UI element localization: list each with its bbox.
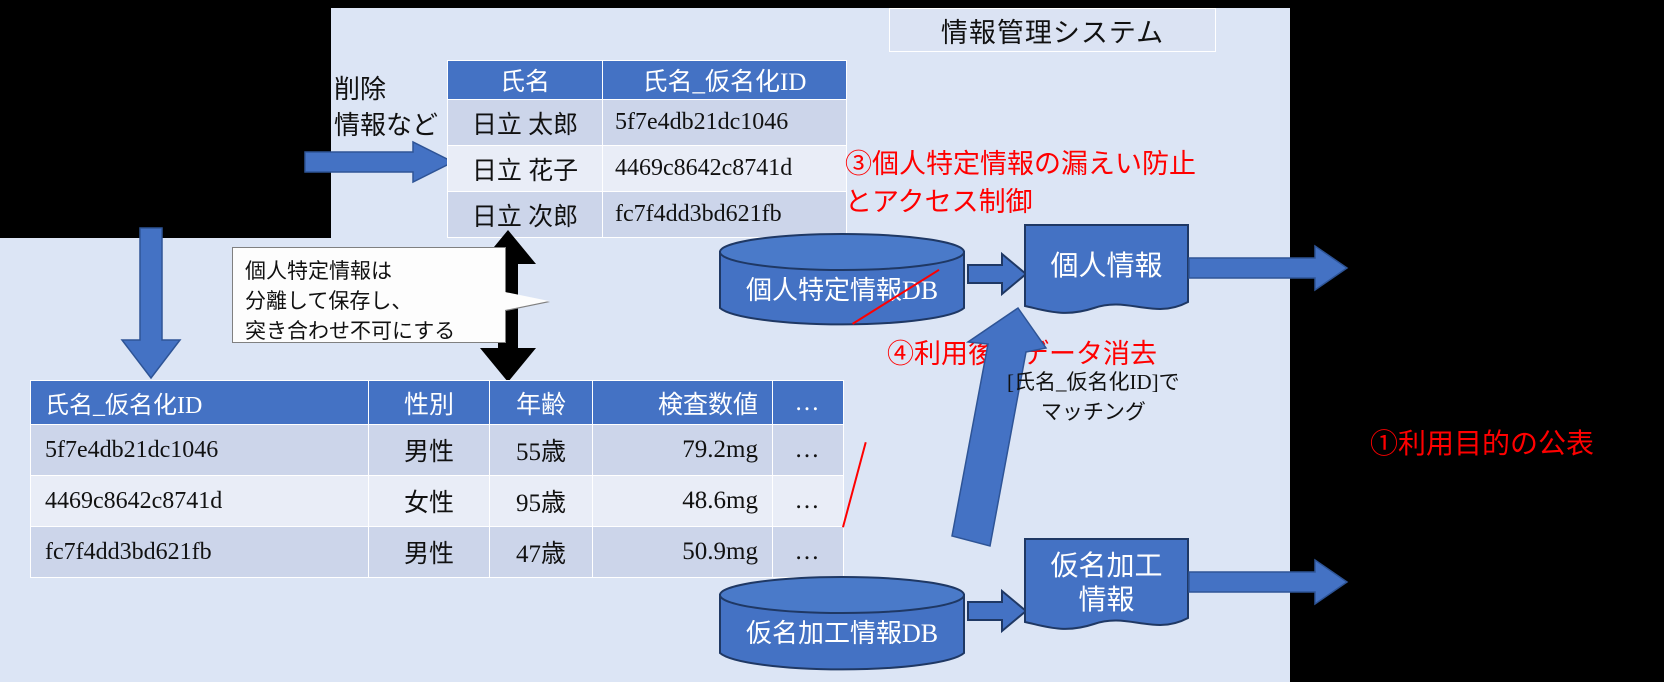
table-header-row: 氏名_仮名化ID 性別 年齢 検査数値 … bbox=[31, 381, 844, 425]
balloon-line-2: 分離して保存し、 bbox=[245, 286, 505, 316]
col-header-sex: 性別 bbox=[369, 381, 490, 425]
col-header-name: 氏名 bbox=[448, 61, 603, 100]
cell-testvalue: 48.6mg bbox=[593, 476, 773, 527]
arrow-personal-out bbox=[1189, 244, 1349, 292]
arrow-matching-up bbox=[930, 308, 1070, 560]
table-row: 日立 花子 4469c8642c8741d bbox=[448, 146, 847, 192]
cell-testvalue: 50.9mg bbox=[593, 527, 773, 578]
cell-age: 95歳 bbox=[490, 476, 593, 527]
pseudonymized-data-table: 氏名_仮名化ID 性別 年齢 検査数値 … 5f7e4db21dc1046 男性… bbox=[30, 380, 844, 578]
note-3-line-2: とアクセス制御 bbox=[845, 183, 1196, 221]
cell-sex: 男性 bbox=[369, 527, 490, 578]
cell-testvalue: 79.2mg bbox=[593, 425, 773, 476]
balloon-line-3: 突き合わせ不可にする bbox=[245, 316, 505, 346]
arrow-pseudonym-out bbox=[1189, 558, 1349, 606]
original-name-table: 氏名 氏名_仮名化ID 日立 太郎 5f7e4db21dc1046 日立 花子 … bbox=[447, 60, 847, 238]
balloon-tail bbox=[505, 292, 549, 310]
cell-pseudoid: 4469c8642c8741d bbox=[603, 146, 847, 192]
table-header-row: 氏名 氏名_仮名化ID bbox=[448, 61, 847, 100]
system-title: 情報管理システム bbox=[889, 8, 1216, 52]
diagram-canvas: 情報管理システム 削除 情報など 氏名 氏名_仮名化ID 日立 太郎 5f7e4… bbox=[0, 0, 1664, 682]
arrow-db-to-personal-doc bbox=[968, 250, 1028, 298]
table-row: 5f7e4db21dc1046 男性 55歳 79.2mg … bbox=[31, 425, 844, 476]
db-pseudonymized: 仮名加工情報DB bbox=[718, 575, 966, 675]
table-row: 日立 太郎 5f7e4db21dc1046 bbox=[448, 100, 847, 146]
delete-info-label: 削除 情報など bbox=[334, 72, 438, 144]
callout-balloon: 個人特定情報は 分離して保存し、 突き合わせ不可にする bbox=[232, 247, 506, 343]
cell-more: … bbox=[773, 527, 844, 578]
note-3-label: ③個人特定情報の漏えい防止 とアクセス制御 bbox=[845, 145, 1196, 221]
table-row: fc7f4dd3bd621fb 男性 47歳 50.9mg … bbox=[31, 527, 844, 578]
col-header-testvalue: 検査数値 bbox=[593, 381, 773, 425]
arrow-delete-to-table bbox=[305, 140, 455, 184]
col-header-more: … bbox=[773, 381, 844, 425]
cell-pseudoid: 4469c8642c8741d bbox=[31, 476, 369, 527]
col-header-pseudoid: 氏名_仮名化ID bbox=[603, 61, 847, 100]
table-row: 4469c8642c8741d 女性 95歳 48.6mg … bbox=[31, 476, 844, 527]
cell-age: 47歳 bbox=[490, 527, 593, 578]
note-3-line-1: ③個人特定情報の漏えい防止 bbox=[845, 145, 1196, 183]
cell-age: 55歳 bbox=[490, 425, 593, 476]
cell-pseudoid: 5f7e4db21dc1046 bbox=[603, 100, 847, 146]
cell-pseudoid: 5f7e4db21dc1046 bbox=[31, 425, 369, 476]
doc-pseudonym-label-2: 情報 bbox=[1024, 584, 1189, 618]
cell-more: … bbox=[773, 476, 844, 527]
cell-sex: 男性 bbox=[369, 425, 490, 476]
doc-personal-label: 個人情報 bbox=[1024, 250, 1189, 284]
db-personal-identifying: 個人特定情報DB bbox=[718, 232, 966, 328]
cell-name: 日立 太郎 bbox=[448, 100, 603, 146]
cell-more: … bbox=[773, 425, 844, 476]
cell-pseudoid: fc7f4dd3bd621fb bbox=[31, 527, 369, 578]
doc-pseudonymized-information: 仮名加工 情報 bbox=[1024, 538, 1189, 634]
matching-line-2: マッチング bbox=[1007, 397, 1180, 427]
col-header-age: 年齢 bbox=[490, 381, 593, 425]
balloon-line-1: 個人特定情報は bbox=[245, 256, 505, 286]
cell-sex: 女性 bbox=[369, 476, 490, 527]
note-1-label: ①利用目的の公表 bbox=[1370, 422, 1594, 462]
arrow-db-to-pseudonym-doc bbox=[968, 587, 1028, 635]
cell-pseudoid: fc7f4dd3bd621fb bbox=[603, 192, 847, 238]
delete-info-line-1: 削除 bbox=[334, 72, 438, 108]
matching-label: [氏名_仮名化ID]で マッチング bbox=[1007, 367, 1180, 427]
matching-line-1: [氏名_仮名化ID]で bbox=[1007, 367, 1180, 397]
col-header-pseudoid: 氏名_仮名化ID bbox=[31, 381, 369, 425]
db-pseudonymized-label: 仮名加工情報DB bbox=[718, 613, 966, 650]
arrow-down-to-bottom-table bbox=[118, 228, 184, 380]
delete-info-line-2: 情報など bbox=[334, 108, 438, 144]
cell-name: 日立 花子 bbox=[448, 146, 603, 192]
doc-personal-information: 個人情報 bbox=[1024, 224, 1189, 316]
doc-pseudonym-label-1: 仮名加工 bbox=[1024, 550, 1189, 584]
